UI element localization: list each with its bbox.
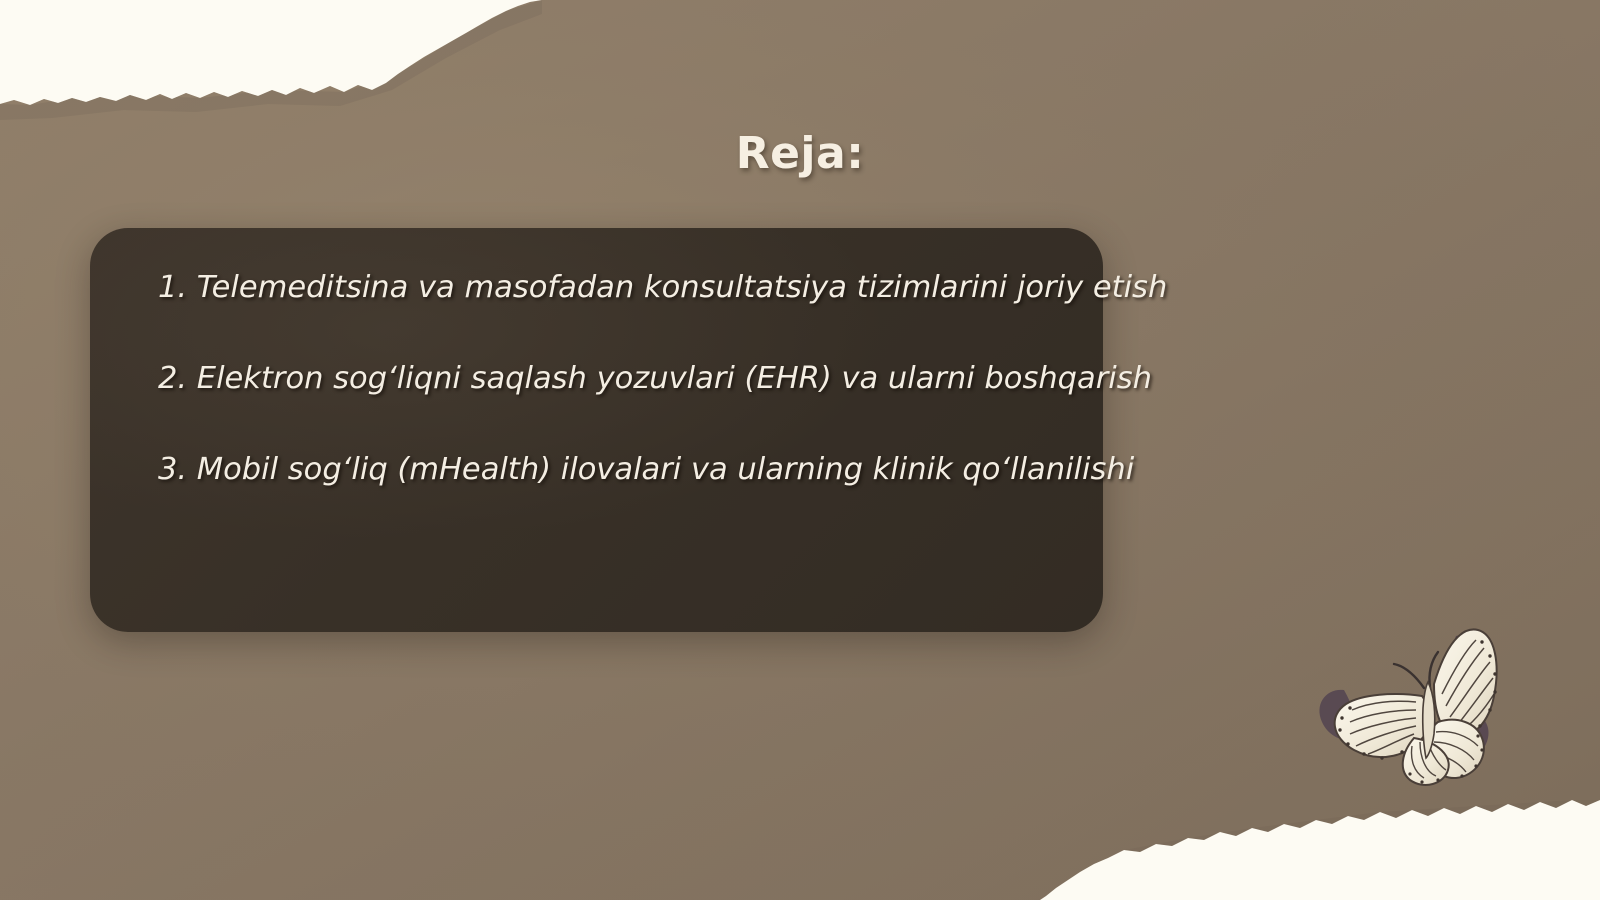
plan-item-3: 3. Mobil sog‘liq (mHealth) ilovalari va … [158,452,1059,487]
butterfly-icon [1306,618,1506,798]
plan-item-2: 2. Elektron sog‘liqni saqlash yozuvlari … [158,361,1059,396]
plan-item-1: 1. Telemeditsina va masofadan konsultats… [158,270,1059,305]
plan-card: 1. Telemeditsina va masofadan konsultats… [90,228,1103,632]
slide-canvas: Reja: 1. Telemeditsina va masofadan kons… [0,0,1600,900]
page-title: Reja: [0,128,1600,179]
